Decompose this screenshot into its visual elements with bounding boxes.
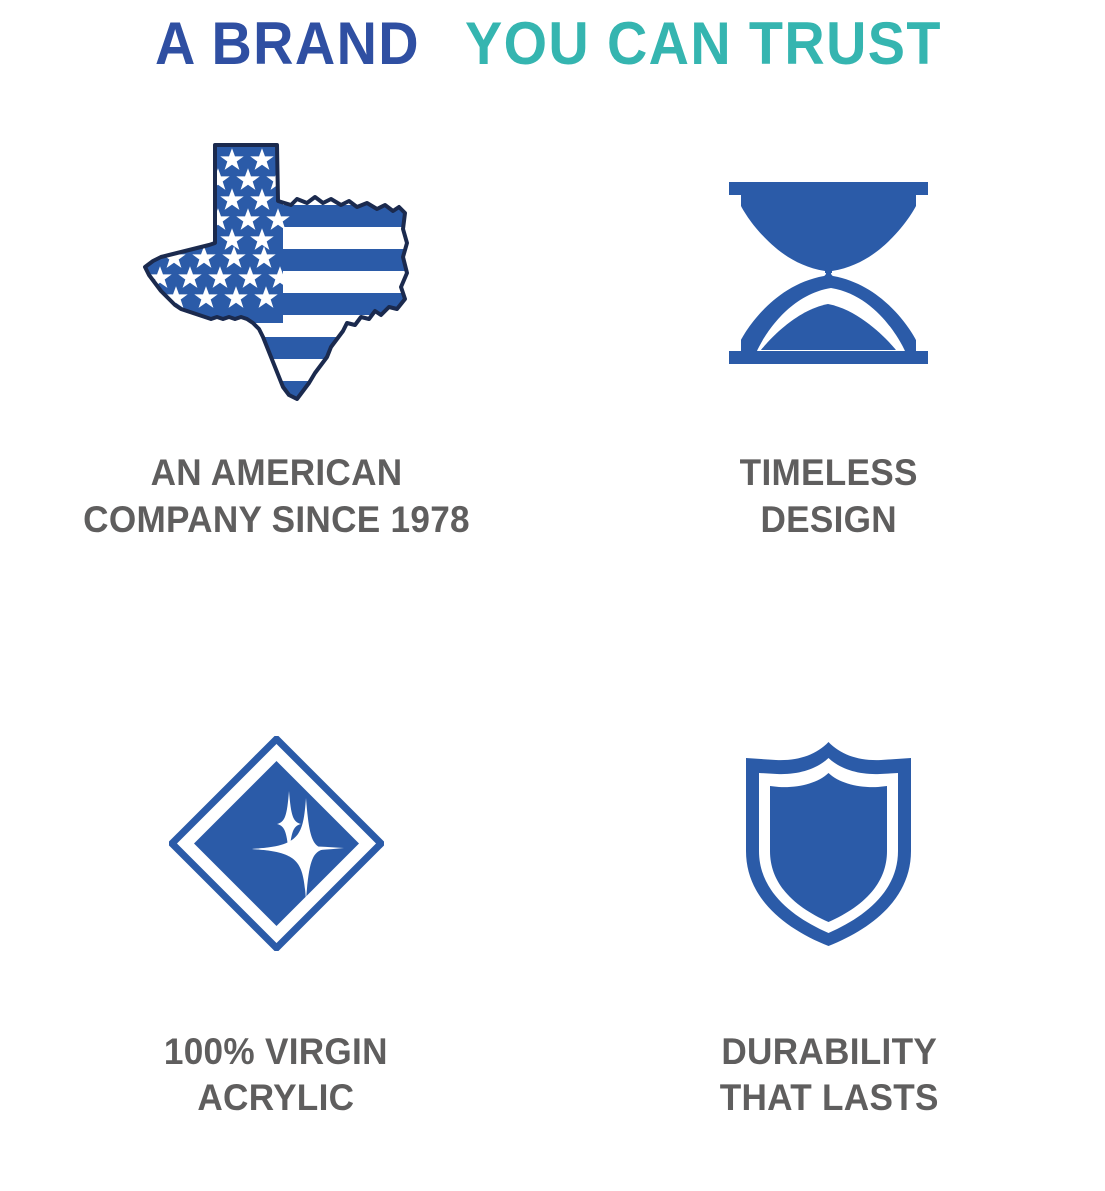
feature-cell-timeless-design: TIMELESS DESIGN — [553, 90, 1105, 641]
caption-line-1: DURABILITY — [721, 1031, 937, 1072]
caption-line-1: AN AMERICAN — [150, 452, 402, 493]
hourglass-icon — [721, 178, 936, 368]
brand-trust-infographic: A BRAND YOU CAN TRUST — [0, 0, 1105, 1191]
page-title: A BRAND YOU CAN TRUST — [0, 0, 1105, 88]
feature-cell-american-company: AN AMERICAN COMPANY SINCE 1978 — [0, 90, 553, 641]
headline-primary-text: A BRAND — [155, 14, 420, 74]
icon-container — [553, 641, 1105, 1003]
feature-cell-durability: DURABILITY THAT LASTS — [553, 641, 1105, 1191]
caption-line-2: ACRYLIC — [164, 1075, 388, 1122]
feature-caption: AN AMERICAN COMPANY SINCE 1978 — [83, 450, 470, 543]
caption-line-2: DESIGN — [740, 497, 918, 544]
texas-us-flag-icon — [131, 133, 421, 413]
caption-line-2: COMPANY SINCE 1978 — [83, 497, 470, 544]
icon-container — [553, 90, 1105, 432]
feature-grid: AN AMERICAN COMPANY SINCE 1978 — [0, 90, 1105, 1191]
icon-container — [0, 641, 553, 1003]
shield-icon — [741, 739, 916, 949]
headline-secondary-text: YOU CAN TRUST — [465, 14, 942, 74]
diamond-sparkle-icon — [169, 736, 384, 951]
caption-line-1: TIMELESS — [740, 452, 918, 493]
feature-caption: DURABILITY THAT LASTS — [719, 1029, 938, 1122]
feature-caption: 100% VIRGIN ACRYLIC — [164, 1029, 388, 1122]
caption-line-2: THAT LASTS — [719, 1075, 938, 1122]
feature-cell-virgin-acrylic: 100% VIRGIN ACRYLIC — [0, 641, 553, 1191]
feature-caption: TIMELESS DESIGN — [740, 450, 918, 543]
caption-line-1: 100% VIRGIN — [164, 1031, 388, 1072]
icon-container — [0, 90, 553, 432]
